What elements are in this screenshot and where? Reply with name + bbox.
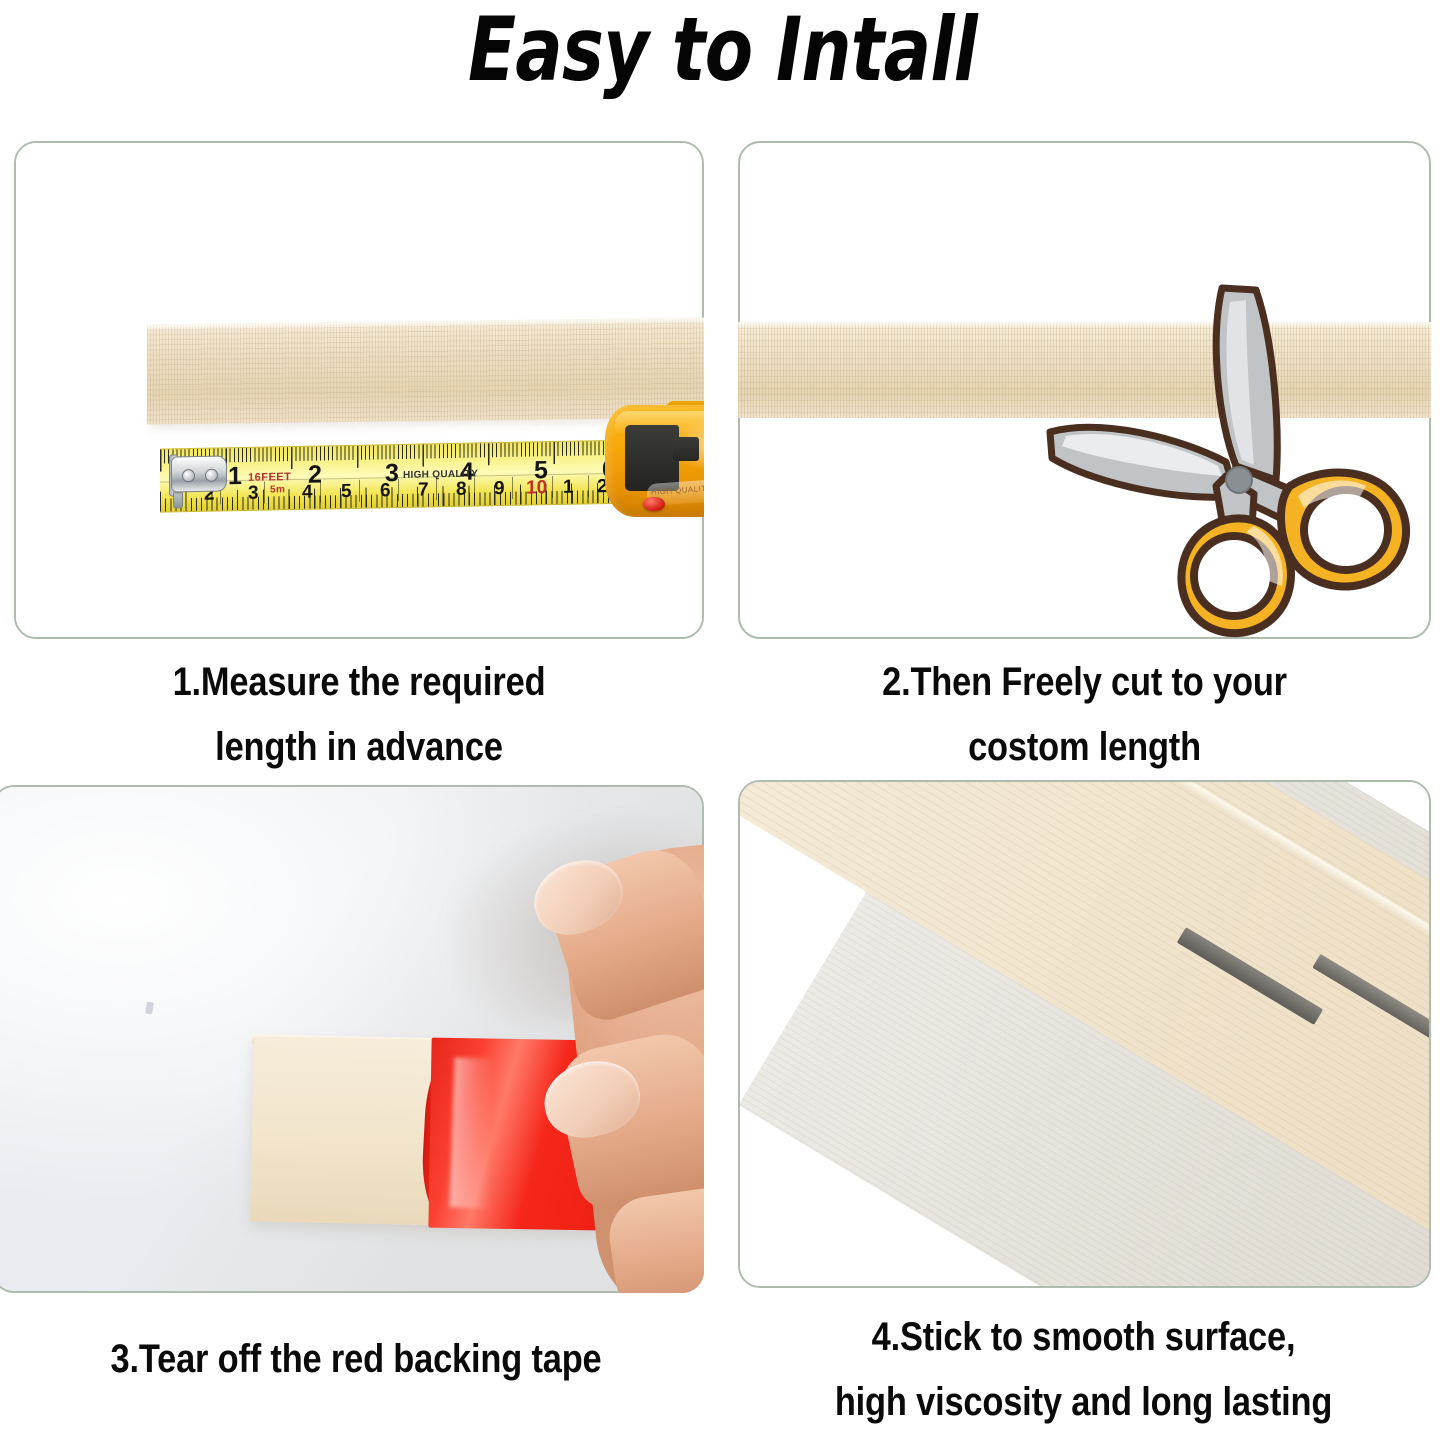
metric-divider xyxy=(264,482,265,504)
step-1-artwork-clip: 1 2 3 4 5 6 16FEET HIGH QUALITY 2 3 4 5 … xyxy=(14,141,704,639)
step-1-artwork: 1 2 3 4 5 6 16FEET HIGH QUALITY 2 3 4 5 … xyxy=(14,141,704,560)
step-3-artwork xyxy=(0,785,704,1293)
tape-measure-case-icon: HIGH QUALITY xyxy=(605,405,704,523)
case-shell: HIGH QUALITY xyxy=(605,405,704,517)
metric-divider xyxy=(398,479,399,501)
step-2-caption-line2: costom length xyxy=(787,715,1383,780)
metric-divider xyxy=(474,478,475,500)
tape-measure-blade-icon: 1 2 3 4 5 6 16FEET HIGH QUALITY 2 3 4 5 … xyxy=(160,439,640,512)
metric-divider xyxy=(359,480,360,502)
case-label-text: HIGH QUALITY xyxy=(651,484,704,497)
red-tape-highlight xyxy=(449,1057,494,1208)
scissors-icon xyxy=(1040,280,1431,639)
lock-button-icon xyxy=(643,497,665,511)
step-3-caption-line1: 3.Tear off the red backing tape xyxy=(50,1327,662,1392)
step-2-artwork-clip xyxy=(738,141,1431,639)
tape-metric-text: 5m xyxy=(270,485,285,495)
metric-mark: 1 xyxy=(563,478,574,497)
metric-mark: 4 xyxy=(302,483,313,502)
metric-mark: 9 xyxy=(494,479,505,498)
step-1-caption-line2: length in advance xyxy=(62,715,655,780)
metric-mark: 8 xyxy=(456,480,467,499)
infographic-page: Easy to Intall 1 2 3 4 5 6 xyxy=(0,0,1445,1431)
step-3-artwork-clip xyxy=(0,785,704,1293)
hook-rivet xyxy=(205,469,218,482)
step-2-caption: 2.Then Freely cut to your costom length xyxy=(787,650,1383,780)
step-3-caption: 3.Tear off the red backing tape xyxy=(50,1327,662,1392)
step-1-caption-line1: 1.Measure the required xyxy=(62,650,655,715)
metric-mark: 6 xyxy=(380,481,391,500)
metric-divider xyxy=(552,476,553,498)
hook-plate xyxy=(171,455,227,492)
step-4-scene xyxy=(740,782,1429,1286)
metric-mark: 3 xyxy=(248,484,259,503)
metric-divider xyxy=(320,481,321,503)
metric-mark: 7 xyxy=(418,480,429,499)
step-4-caption: 4.Stick to smooth surface, high viscosit… xyxy=(776,1305,1391,1435)
step-4-caption-line2: high viscosity and long lasting xyxy=(776,1370,1391,1435)
tape-hook-icon xyxy=(169,451,227,498)
step-1-caption: 1.Measure the required length in advance xyxy=(62,650,655,780)
metric-mark-red: 10 xyxy=(526,478,547,497)
step-2-artwork xyxy=(738,141,1431,560)
metric-divider xyxy=(436,478,437,500)
step-2-caption-line1: 2.Then Freely cut to your xyxy=(787,650,1383,715)
hook-rivet xyxy=(182,469,195,482)
step-4-image-panel xyxy=(738,780,1431,1288)
step-4-caption-line1: 4.Stick to smooth surface, xyxy=(776,1305,1391,1370)
metric-divider xyxy=(512,477,513,499)
page-title: Easy to Intall xyxy=(145,6,1301,94)
hook-tail xyxy=(173,492,183,508)
brake-lever-icon xyxy=(625,425,679,491)
metric-divider xyxy=(588,475,589,497)
metric-mark: 5 xyxy=(341,482,352,501)
